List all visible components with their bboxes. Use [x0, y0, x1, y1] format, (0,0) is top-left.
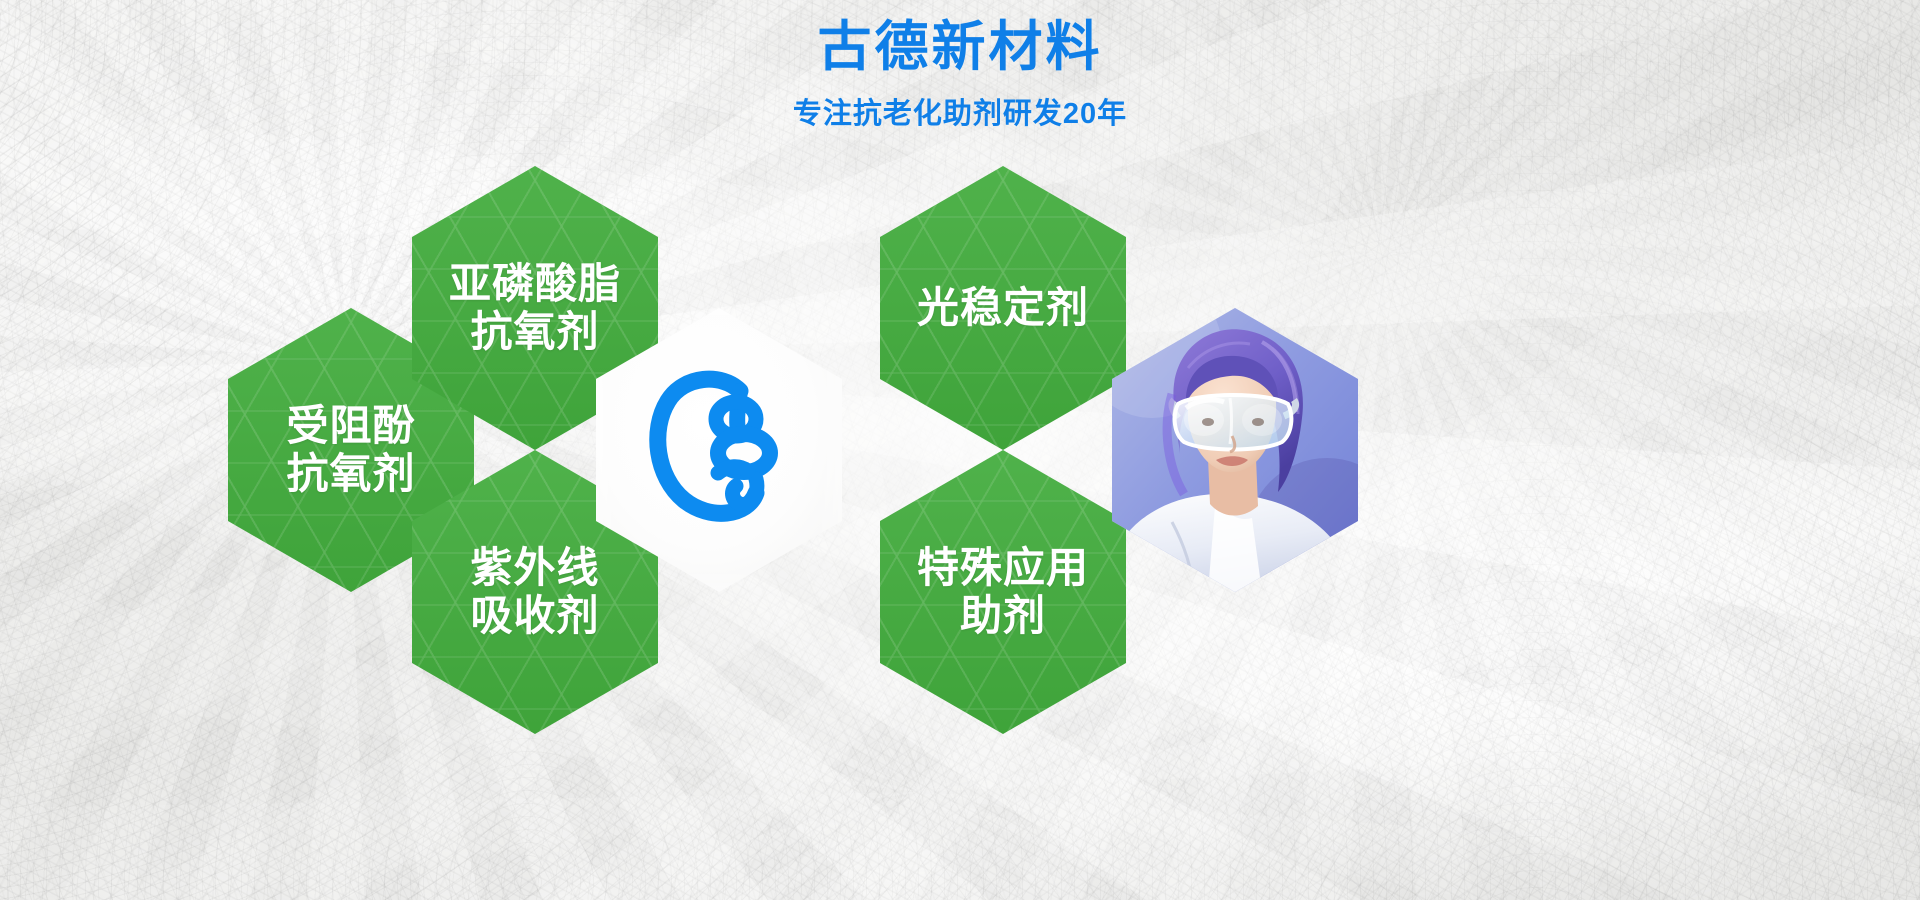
- hex-special-application-additive[interactable]: 特殊应用 助剂: [880, 450, 1126, 734]
- hex-label-light-stabilizer: 光稳定剂: [917, 284, 1089, 332]
- hex-label-hindered-phenol: 受阻酚 抗氧剂: [286, 402, 415, 498]
- hexagon-grid: 受阻酚 抗氧剂 亚磷酸脂 抗氧剂 紫外线 吸收剂: [0, 0, 1920, 900]
- hex-lab-technician-photo: [1112, 308, 1358, 592]
- banner-stage: 古德新材料 专注抗老化助剂研发20年 受阻酚 抗氧剂 亚磷酸脂 抗氧剂 紫外线 …: [0, 0, 1920, 900]
- lab-technician-photo: [1112, 308, 1358, 592]
- hex-light-stabilizer[interactable]: 光稳定剂: [880, 166, 1126, 450]
- hex-label-uv-absorber: 紫外线 吸收剂: [470, 544, 599, 640]
- gude-g-logo-icon: [644, 361, 794, 539]
- hex-label-special-app: 特殊应用 助剂: [917, 544, 1089, 640]
- hex-label-phosphite: 亚磷酸脂 抗氧剂: [449, 260, 621, 356]
